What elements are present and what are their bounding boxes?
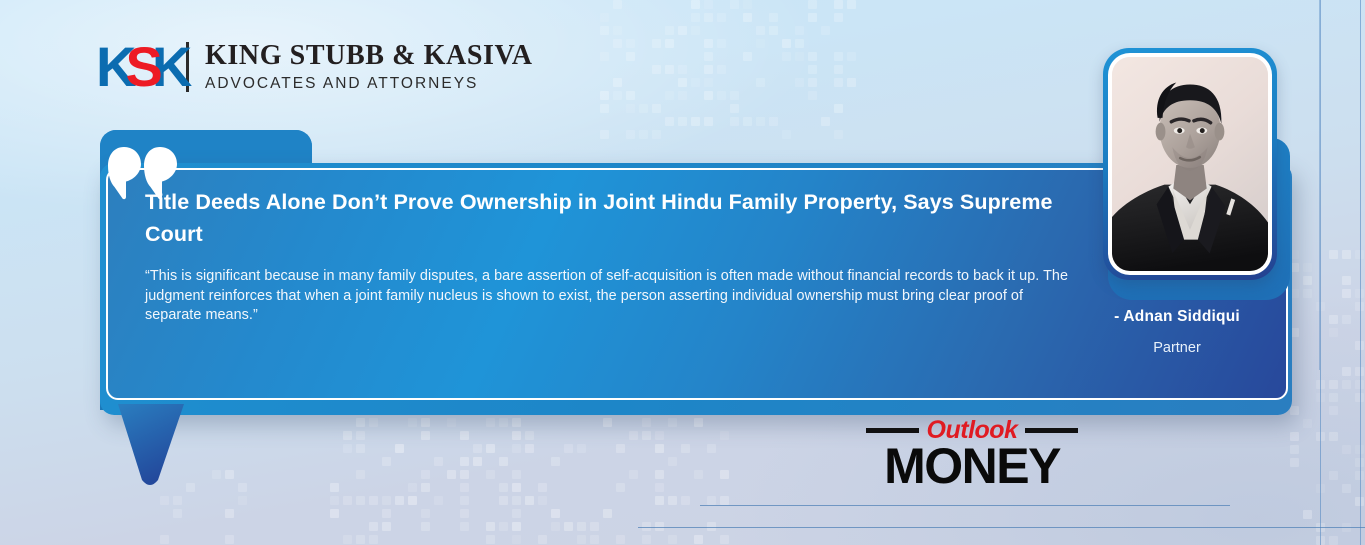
background-pixel-pattern-center [330,405,730,545]
publication-word-money: MONEY [866,442,1078,490]
publication-logo: Outlook MONEY [866,418,1078,490]
speech-bubble-tail [118,404,186,486]
headline: Title Deeds Alone Don’t Prove Ownership … [145,186,1070,250]
ksk-monogram-icon: KSK [96,40,168,94]
monogram-letter-s: S [125,35,158,98]
logo-wordmark: KING STUBB & KASIVA ADVOCATES AND ATTORN… [205,41,533,93]
logo-dash-left-icon [866,428,919,433]
portrait-frame [1103,48,1277,280]
quote-card-text: Title Deeds Alone Don’t Prove Ownership … [145,186,1070,326]
logo-dash-right-icon [1025,428,1078,433]
attribution-role: Partner [1062,340,1292,356]
firm-tagline: ADVOCATES AND ATTORNEYS [205,75,533,93]
horizontal-rule-lower [638,527,1365,528]
background-pixel-pattern-top [600,0,860,140]
vertical-rule-3 [1319,0,1320,370]
portrait-frame-inner [1108,53,1272,275]
horizontal-rule-upper [700,505,1230,506]
attribution-name: - Adnan Siddiqui [1062,308,1292,326]
background-pixel-pattern-right [1290,250,1365,545]
brand-logo: KSK KING STUBB & KASIVA ADVOCATES AND AT… [96,40,533,94]
portrait-photo [1112,57,1268,271]
attribution: - Adnan Siddiqui Partner [1062,308,1292,356]
vertical-rule-1 [1320,0,1321,545]
quote-paragraph: “This is significant because in many fam… [145,267,1070,326]
firm-name: KING STUBB & KASIVA [205,41,533,70]
vertical-rule-2 [1360,0,1361,545]
